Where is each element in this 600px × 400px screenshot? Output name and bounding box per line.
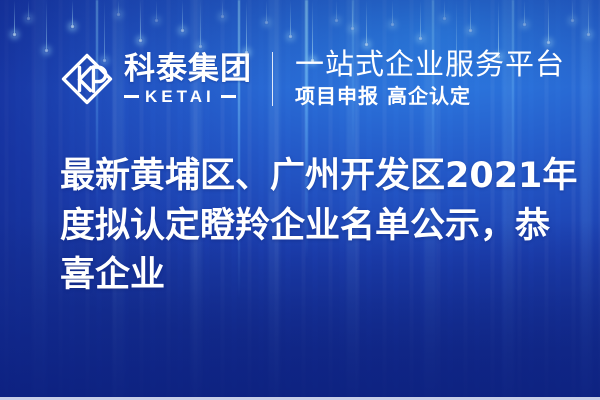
ketai-logo-icon: [60, 52, 114, 106]
brand-name-cn: 科泰集团: [124, 53, 252, 86]
brand-wordmark: 科泰集团 KETAI: [124, 53, 252, 106]
tagline-main: 一站式企业服务平台: [295, 49, 565, 81]
brand-dash-right-icon: [221, 95, 236, 98]
brand-dash-left-icon: [124, 95, 139, 98]
tagline-sub: 项目申报 高企认定: [295, 84, 565, 109]
banner-header: 科泰集团 KETAI 一站式企业服务平台 项目申报 高企认定: [60, 48, 565, 110]
promo-banner: 科泰集团 KETAI 一站式企业服务平台 项目申报 高企认定 最新黄埔区、广州开…: [0, 0, 600, 400]
brand-name-en: KETAI: [145, 88, 215, 105]
headline-text: 最新黄埔区、广州开发区2021年度拟认定瞪羚企业名单公示，恭喜企业: [60, 152, 580, 301]
header-divider: [272, 52, 273, 106]
brand-name-en-row: KETAI: [124, 88, 252, 105]
tagline-block: 一站式企业服务平台 项目申报 高企认定: [295, 49, 565, 110]
